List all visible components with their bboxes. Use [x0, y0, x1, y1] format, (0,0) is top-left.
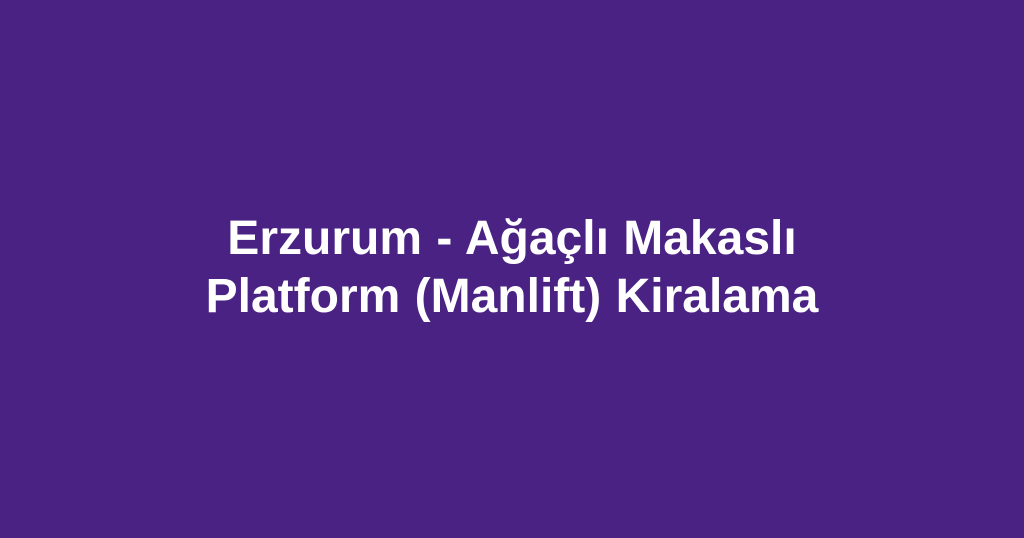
page-title: Erzurum - Ağaçlı Makaslı Platform (Manli…: [134, 210, 890, 326]
share-preview-banner: Erzurum - Ağaçlı Makaslı Platform (Manli…: [0, 0, 1024, 538]
banner-title-block: Erzurum - Ağaçlı Makaslı Platform (Manli…: [122, 210, 902, 326]
